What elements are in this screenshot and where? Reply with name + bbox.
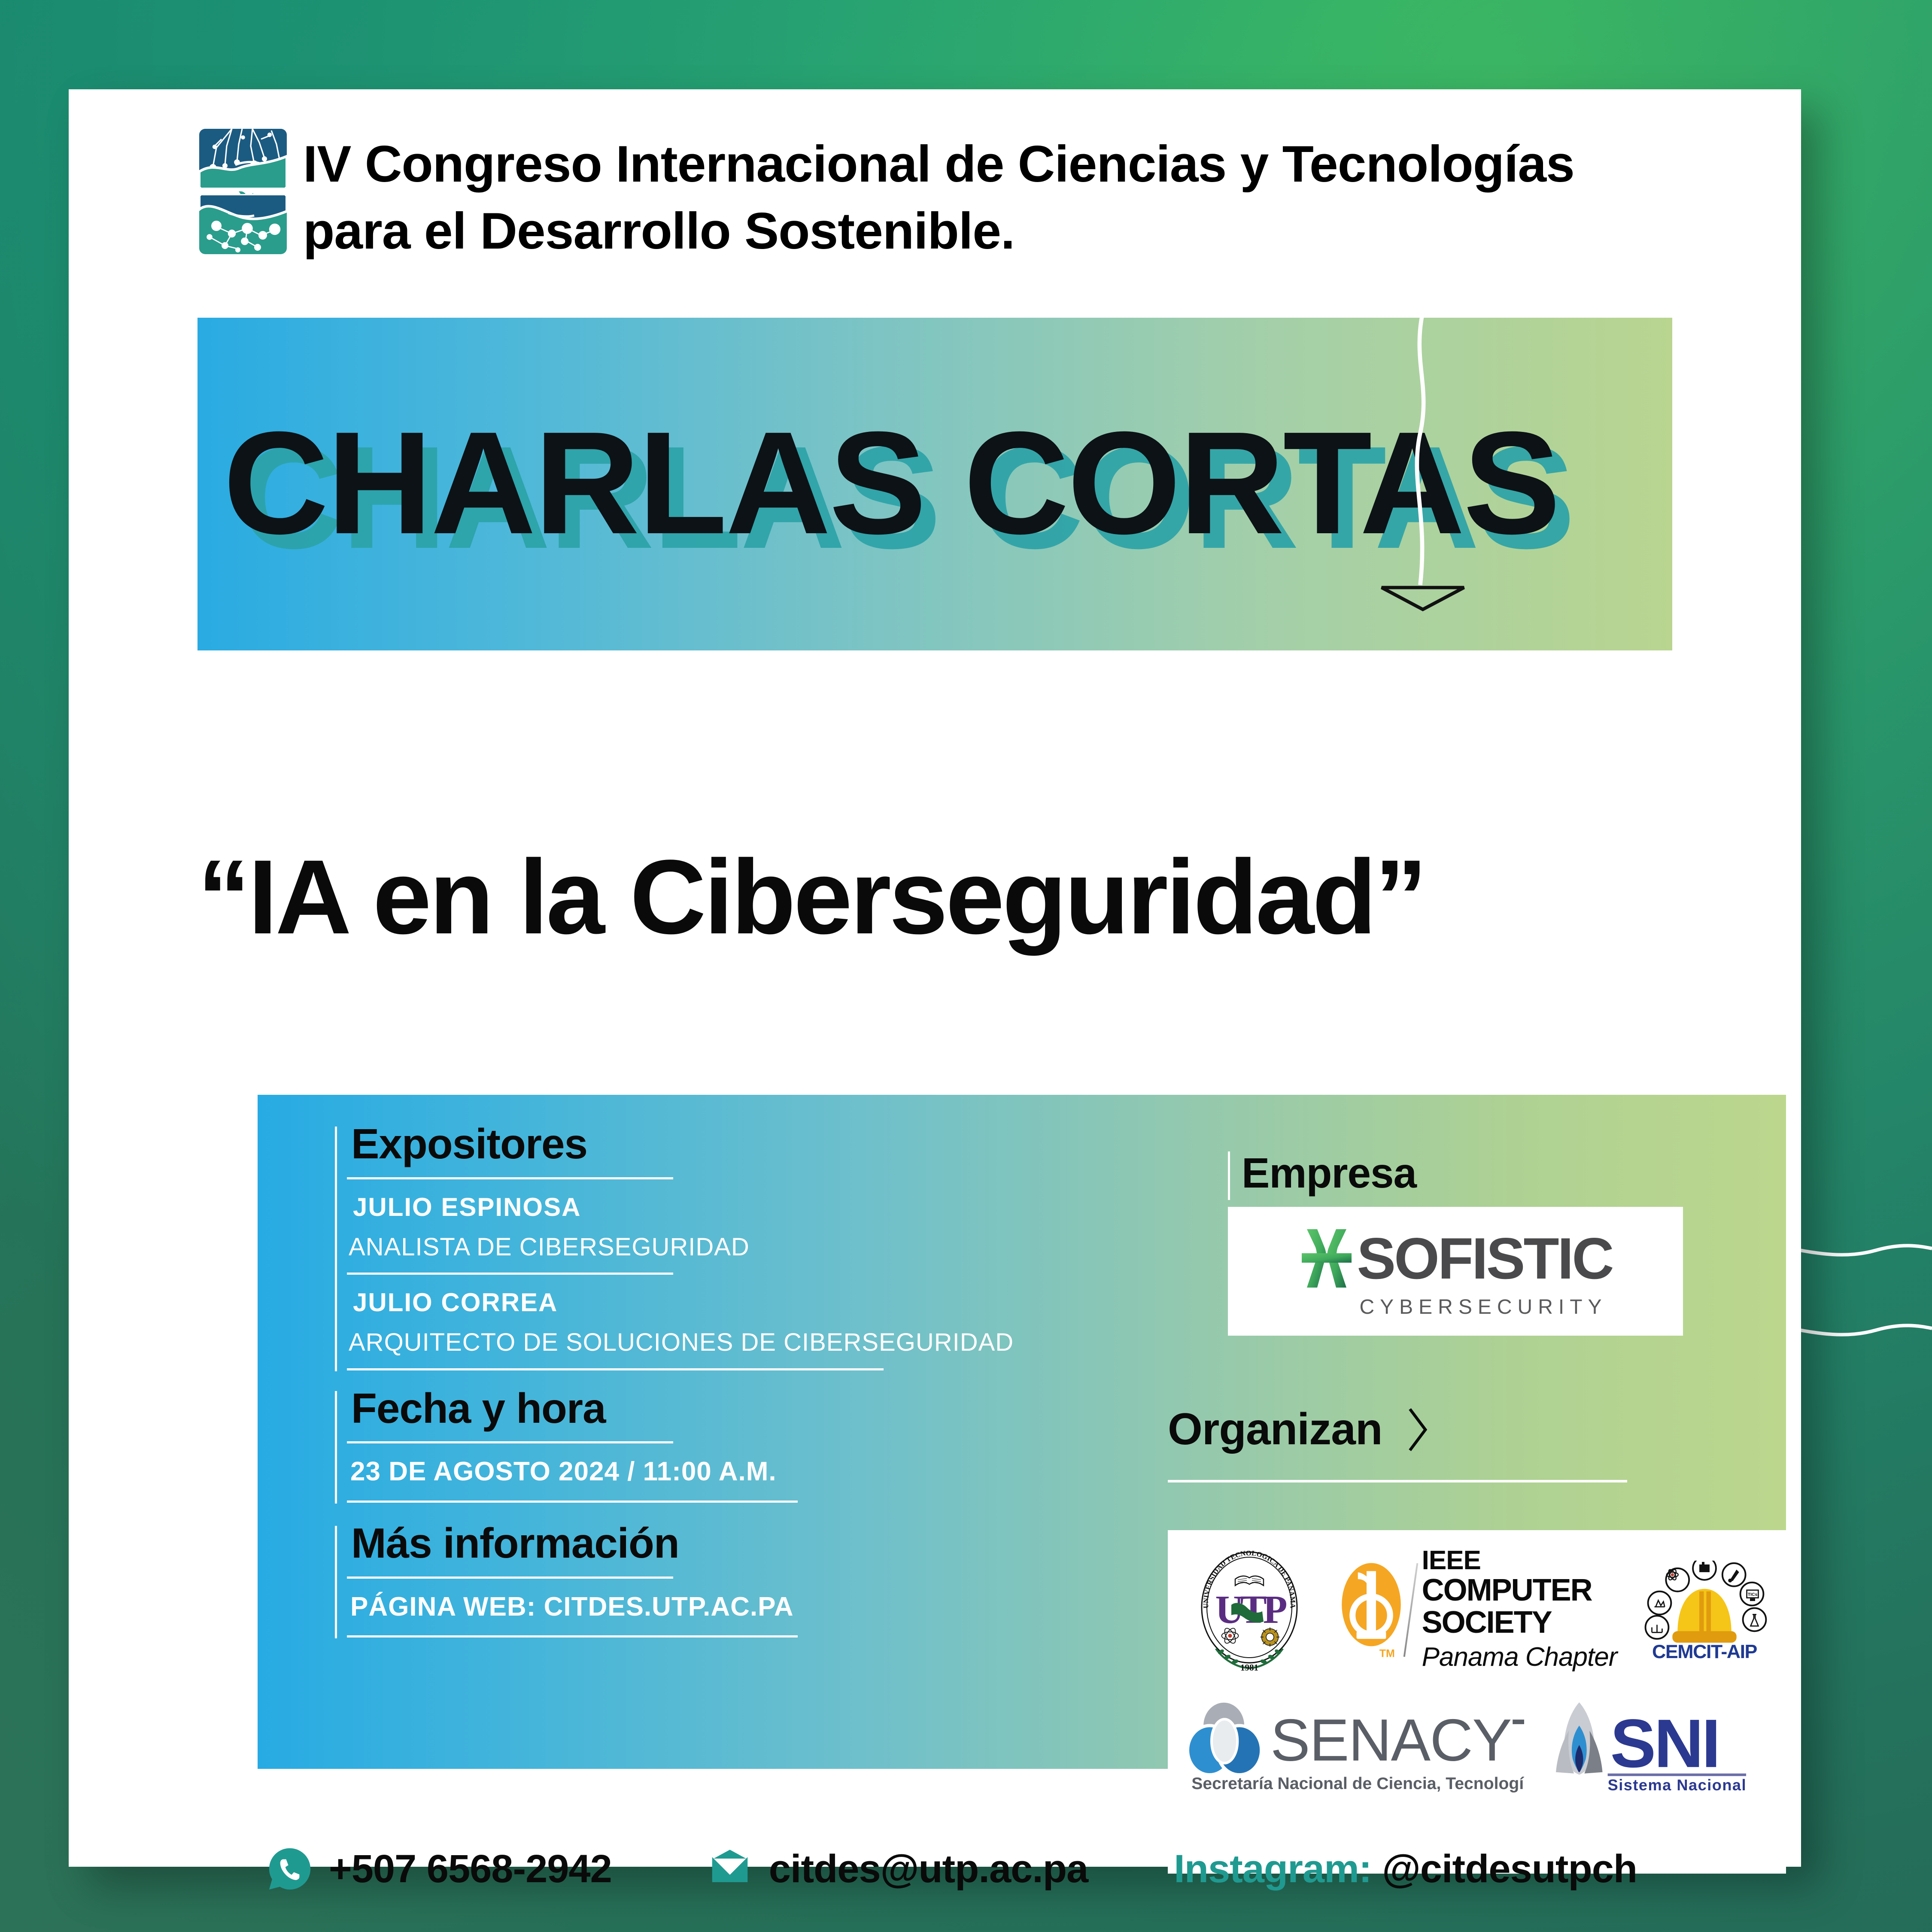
chevron-right-icon (1406, 1407, 1431, 1452)
mas-info-block: Más información PÁGINA WEB: CITDES.UTP.A… (335, 1520, 1121, 1637)
sponsor-logos-box: UNIVERSIDAD TECNOLOGICA DE PANAMA (1168, 1530, 1786, 1874)
divider (1168, 1480, 1627, 1482)
banner-title-wrap: CHARLAS CORTAS CHARLAS CORTAS (223, 410, 1769, 565)
svg-text:UTP: UTP (1215, 1588, 1287, 1632)
sofistic-x-icon (1298, 1224, 1355, 1293)
empresa-block: Empresa (1228, 1149, 1683, 1336)
senacyt-label: SENACYT (1270, 1707, 1524, 1774)
whatsapp-number: +507 6568-2942 (329, 1847, 612, 1892)
divider (347, 1273, 673, 1275)
fecha-value: 23 DE AGOSTO 2024 / 11:00 A.M. (347, 1455, 1121, 1489)
divider (347, 1368, 884, 1370)
talk-title: “IA en la Ciberseguridad” (197, 836, 1700, 958)
empresa-heading: Empresa (1237, 1149, 1683, 1197)
ieee-computer-society-logo-icon: TM IEEE COMPUTER SOCIETY Panama Chapter (1337, 1547, 1617, 1674)
charlas-cortas-banner: CHARLAS CORTAS CHARLAS CORTAS (197, 318, 1672, 650)
cemcit-aip-logo-icon: TICs CEMCIT-AIP (1640, 1561, 1769, 1659)
instagram-line: Instagram: @citdesutpch (1174, 1847, 1637, 1892)
fecha-heading: Fecha y hora (347, 1385, 1121, 1432)
speaker-name: JULIO CORREA (347, 1286, 1121, 1319)
expositores-block: Expositores JULIO ESPINOSA ANALISTA DE C… (335, 1121, 1121, 1370)
mas-info-value: PÁGINA WEB: CITDES.UTP.AC.PA (347, 1590, 1121, 1625)
contact-whatsapp[interactable]: +507 6568-2942 (266, 1845, 612, 1893)
organizan-block: Organizan (1168, 1404, 1687, 1482)
expositores-heading: Expositores (347, 1121, 1121, 1168)
senacyt-sub: Secretaría Nacional de Ciencia, Tecnolog… (1191, 1774, 1524, 1793)
divider (347, 1501, 798, 1503)
ieee-line-2: COMPUTER (1422, 1574, 1617, 1607)
sponsor-row-bottom: SENACYT Secretaría Nacional de Ciencia, … (1185, 1689, 1769, 1805)
poster-card: IV Congreso Internacional de Ciencias y … (69, 89, 1801, 1867)
divider (347, 1177, 673, 1179)
empresa-label-wrap: Empresa (1228, 1149, 1683, 1197)
senacyt-logo-icon: SENACYT Secretaría Nacional de Ciencia, … (1185, 1700, 1524, 1794)
info-panel: Expositores JULIO ESPINOSA ANALISTA DE C… (258, 1095, 1786, 1769)
speaker-name: JULIO ESPINOSA (347, 1191, 1121, 1224)
svg-text:TICs: TICs (1748, 1592, 1758, 1597)
divider (347, 1577, 673, 1579)
congress-sustainability-logo-icon (197, 127, 289, 256)
header-line-1: IV Congreso Internacional de Ciencias y … (303, 131, 1574, 197)
speaker-1: JULIO ESPINOSA ANALISTA DE CIBERSEGURIDA… (347, 1191, 1121, 1263)
contact-instagram[interactable]: Instagram: @citdesutpch (1174, 1847, 1637, 1892)
info-left-column: Expositores JULIO ESPINOSA ANALISTA DE C… (335, 1121, 1121, 1649)
banner-title: CHARLAS CORTAS (223, 410, 1559, 556)
sponsor-row-top: UNIVERSIDAD TECNOLOGICA DE PANAMA (1185, 1546, 1769, 1674)
contact-email[interactable]: citdes@utp.ac.pa (706, 1845, 1088, 1893)
ieee-chapter: Panama Chapter (1422, 1641, 1617, 1673)
email-address: citdes@utp.ac.pa (769, 1847, 1088, 1892)
organizan-heading: Organizan (1168, 1404, 1382, 1455)
whatsapp-icon (266, 1845, 313, 1893)
ieee-text-block: IEEE COMPUTER SOCIETY Panama Chapter (1416, 1547, 1617, 1674)
sofistic-wordmark: SOFISTIC (1357, 1229, 1612, 1288)
footer-contacts: +507 6568-2942 citdes@utp.ac.pa Instagra… (266, 1845, 1726, 1893)
svg-text:TM: TM (1379, 1647, 1394, 1659)
page-title: IV Congreso Internacional de Ciencias y … (303, 127, 1574, 264)
mas-info-heading: Más información (347, 1520, 1121, 1567)
utp-seal-logo-icon: UNIVERSIDAD TECNOLOGICA DE PANAMA (1185, 1546, 1314, 1674)
sofistic-logo: SOFISTIC CYBERSECURITY (1228, 1207, 1683, 1336)
sni-logo-icon: SNI Sistema Nacional de Investigación (1541, 1700, 1752, 1794)
divider (347, 1441, 673, 1443)
speaker-2: JULIO CORREA ARQUITECTO DE SOLUCIONES DE… (347, 1286, 1121, 1358)
ieee-line-3: SOCIETY (1422, 1607, 1617, 1639)
fecha-block: Fecha y hora 23 DE AGOSTO 2024 / 11:00 A… (335, 1385, 1121, 1503)
divider (347, 1635, 798, 1637)
utp-year: 1981 (1240, 1662, 1258, 1673)
ieee-line-1: IEEE (1422, 1547, 1617, 1574)
speaker-role: ARQUITECTO DE SOLUCIONES DE CIBERSEGURID… (347, 1326, 1121, 1358)
header-line-2: para el Desarrollo Sostenible. (303, 197, 1574, 264)
poster-header: IV Congreso Internacional de Ciencias y … (197, 127, 1574, 264)
sofistic-tagline: CYBERSECURITY (1303, 1295, 1607, 1319)
sofistic-logo-row: SOFISTIC (1298, 1224, 1612, 1293)
email-envelope-icon (706, 1845, 753, 1893)
instagram-label: Instagram: (1174, 1847, 1371, 1891)
organizan-row: Organizan (1168, 1404, 1687, 1455)
speaker-role: ANALISTA DE CIBERSEGURIDAD (347, 1231, 1121, 1263)
instagram-handle: @citdesutpch (1382, 1847, 1637, 1891)
cemcit-label: CEMCIT-AIP (1652, 1641, 1757, 1659)
sni-sub: Sistema Nacional de Investigación (1608, 1776, 1752, 1794)
sni-label: SNI (1610, 1705, 1719, 1782)
